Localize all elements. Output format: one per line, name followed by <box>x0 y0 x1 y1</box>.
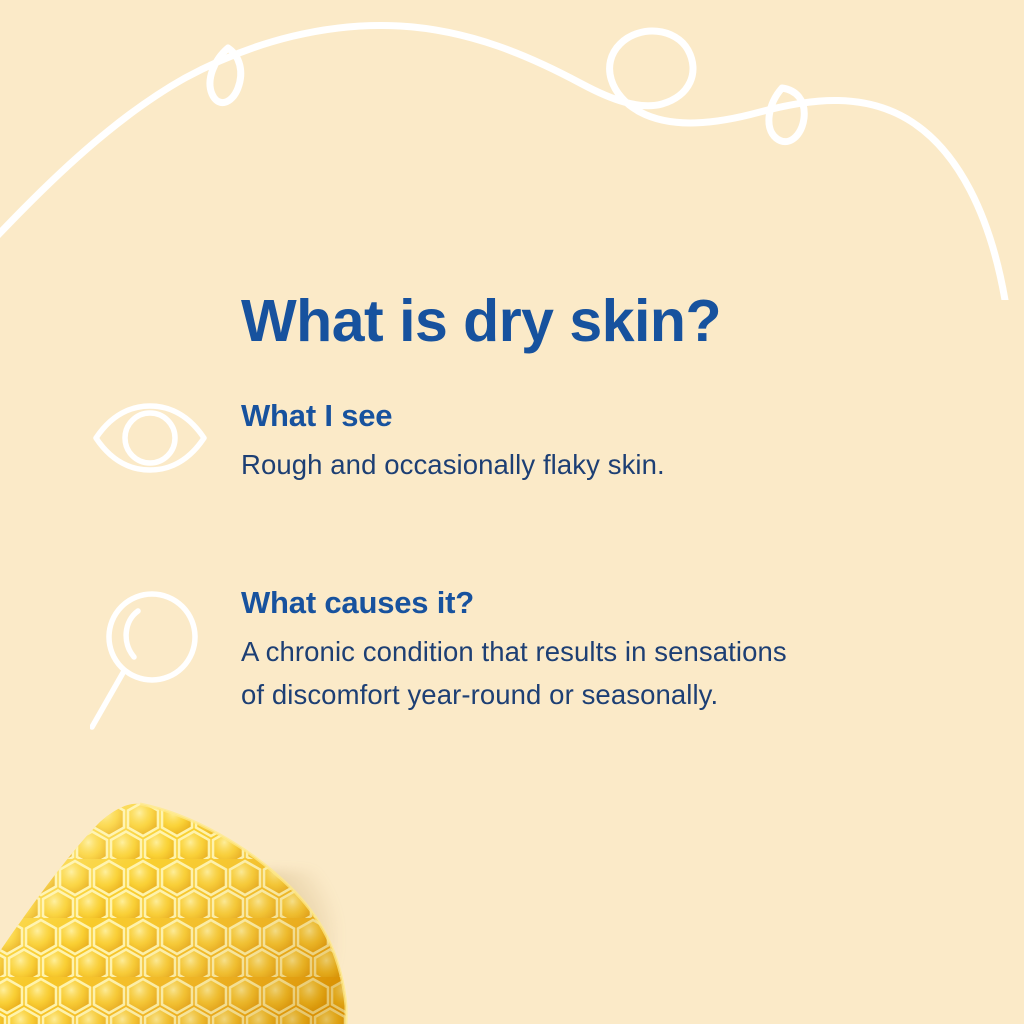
honeycomb-shadow <box>200 870 340 1024</box>
magnifying-glass-icon <box>90 585 220 725</box>
info-block-what-i-see: What I see Rough and occasionally flaky … <box>90 398 970 486</box>
vine-leaf-right <box>769 88 804 142</box>
info-block-body: What I see Rough and occasionally flaky … <box>241 398 970 486</box>
info-block-text-line: of discomfort year-round or seasonally. <box>241 673 941 716</box>
magnifier-handle-shape <box>92 671 124 727</box>
info-block-text: A chronic condition that results in sens… <box>241 630 941 716</box>
info-block-text: Rough and occasionally flaky skin. <box>241 443 941 486</box>
info-block-text-line: Rough and occasionally flaky skin. <box>241 443 941 486</box>
vine-decoration <box>0 0 1024 300</box>
honeycomb-edge-highlight <box>140 804 346 1024</box>
info-block-what-causes-it: What causes it? A chronic condition that… <box>90 585 970 716</box>
info-block-title: What I see <box>241 398 970 435</box>
honeycomb-decoration <box>0 800 390 1024</box>
eye-icon <box>90 398 220 538</box>
info-block-title: What causes it? <box>241 585 970 622</box>
vine-leaf-left <box>210 48 241 103</box>
info-block-body: What causes it? A chronic condition that… <box>241 585 970 716</box>
magnifier-glare-shape <box>126 611 138 657</box>
poster-canvas: What is dry skin? What I see Rough and o… <box>0 0 1024 1024</box>
eye-iris-shape <box>125 413 175 463</box>
page-title: What is dry skin? <box>241 290 721 354</box>
magnifier-lens-shape <box>109 594 195 680</box>
info-block-text-line: A chronic condition that results in sens… <box>241 630 941 673</box>
honeycomb-image <box>0 800 390 1024</box>
vine-stem <box>0 25 1005 300</box>
